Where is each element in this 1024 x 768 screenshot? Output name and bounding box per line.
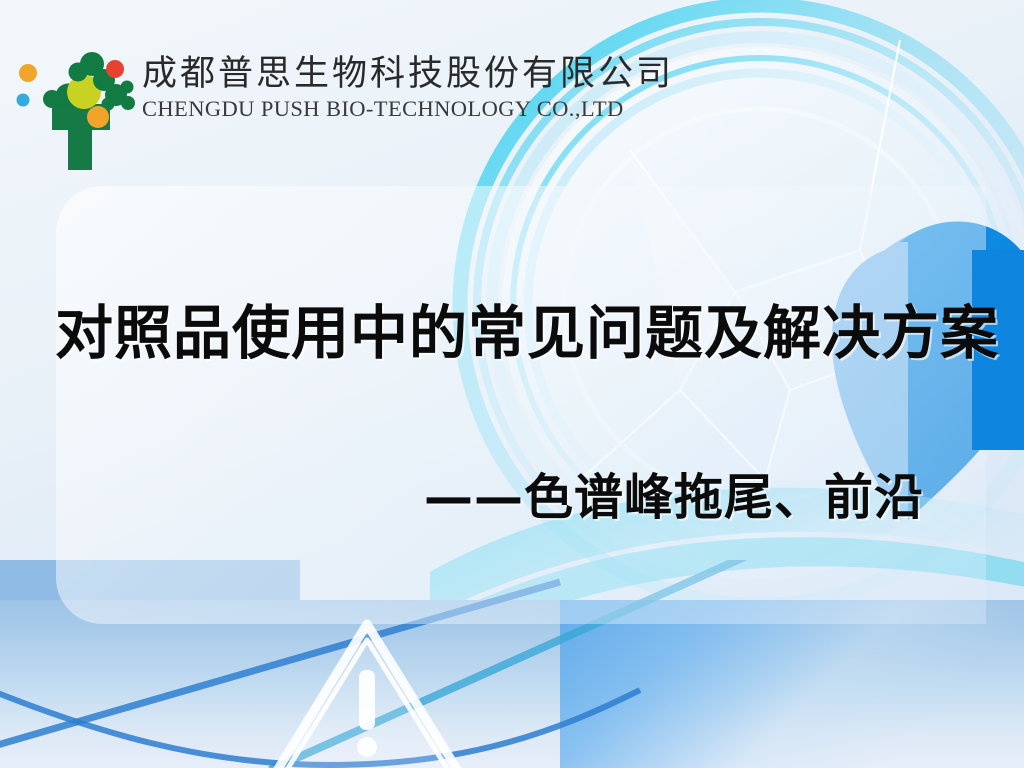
company-name-en: CHENGDU PUSH BIO-TECHNOLOGY CO.,LTD bbox=[142, 96, 642, 122]
page-subtitle: ——色谱峰拖尾、前沿 bbox=[424, 458, 924, 529]
diagonal-accent-lines bbox=[0, 560, 1024, 768]
title-slide: 成都普思生物科技股份有限公司 CHENGDU PUSH BIO-TECHNOLO… bbox=[0, 0, 1024, 768]
content-plate bbox=[56, 186, 986, 624]
lower-left-block bbox=[0, 560, 300, 768]
lower-band-right-glow bbox=[560, 600, 1024, 768]
company-name-cn: 成都普思生物科技股份有限公司 bbox=[142, 54, 642, 95]
page-title: 对照品使用中的常见问题及解决方案 bbox=[55, 286, 999, 370]
push-bio-tree-logo-icon bbox=[12, 48, 144, 173]
company-name-block: 成都普思生物科技股份有限公司 CHENGDU PUSH BIO-TECHNOLO… bbox=[142, 54, 642, 122]
lower-band bbox=[0, 600, 1024, 768]
warning-triangle-icon bbox=[262, 612, 472, 768]
company-logo-block: 成都普思生物科技股份有限公司 CHENGDU PUSH BIO-TECHNOLO… bbox=[12, 48, 632, 173]
